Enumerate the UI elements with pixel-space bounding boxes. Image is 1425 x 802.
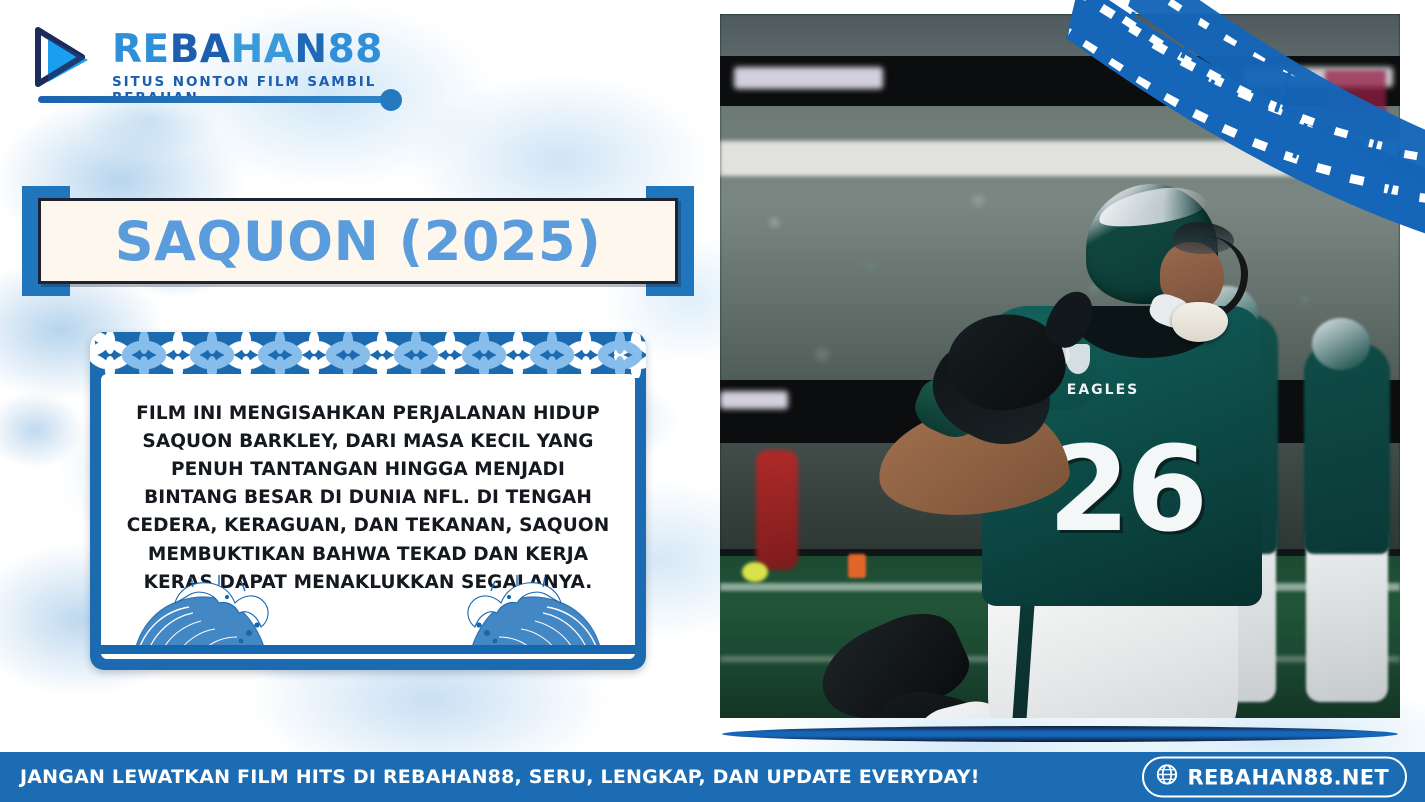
globe-icon (1156, 764, 1178, 791)
logo-underline-bar (38, 96, 388, 103)
photo-shadow-accent (722, 726, 1398, 742)
wave-illustration (101, 567, 635, 659)
teammate-2-jersey (1304, 344, 1390, 554)
synopsis-inner-panel: FILM INI MENGISAHKAN PERJALANAN HIDUP SA… (101, 374, 635, 659)
play-triangle-icon (32, 26, 94, 88)
nfl-patch-icon (1066, 344, 1090, 374)
synopsis-text: FILM INI MENGISAHKAN PERJALANAN HIDUP SA… (101, 374, 635, 597)
movie-photo: EAGLES 26 (720, 14, 1400, 718)
stadium-concourse-band (720, 141, 1400, 176)
stadium-sign-left (720, 391, 788, 409)
stadium-sign-touchdown (734, 67, 884, 89)
brand-name: REBAHAN88 (112, 30, 428, 69)
background-person-red (756, 450, 798, 570)
teammate-2-helmet (1312, 318, 1370, 370)
brand-name-part-1: RE (112, 27, 170, 72)
brand-name-part-4: N (294, 27, 327, 72)
background-object (742, 562, 768, 582)
stadium-photo-content: EAGLES 26 (720, 14, 1400, 718)
brand-name-part-3: HA (231, 27, 295, 72)
movie-title-block: SAQUON (2025) (22, 176, 694, 306)
movie-year: (2025) (399, 210, 602, 273)
footer-message: JANGAN LEWATKAN FILM HITS DI REBAHAN88, … (20, 766, 980, 788)
footer-url-pill[interactable]: REBAHAN88.NET (1142, 757, 1407, 798)
movie-name: SAQUON (115, 210, 380, 273)
footer-url-text: REBAHAN88.NET (1187, 765, 1389, 789)
stadium-banner (1325, 70, 1386, 112)
brand-name-part-2: BA (170, 27, 231, 72)
logo-underline-dot (380, 89, 402, 111)
footer-banner: JANGAN LEWATKAN FILM HITS DI REBAHAN88, … (0, 752, 1425, 802)
flower-band-decoration (90, 332, 646, 378)
brand-name-part-5: 88 (328, 27, 383, 72)
title-box: SAQUON (2025) (38, 198, 678, 284)
page-title: SAQUON (2025) (115, 210, 602, 273)
brand-logo[interactable]: REBAHAN88 SITUS NONTON FILM SAMBIL REBAH… (28, 24, 428, 116)
synopsis-card: FILM INI MENGISAHKAN PERJALANAN HIDUP SA… (90, 332, 646, 670)
field-pylon (848, 554, 866, 578)
